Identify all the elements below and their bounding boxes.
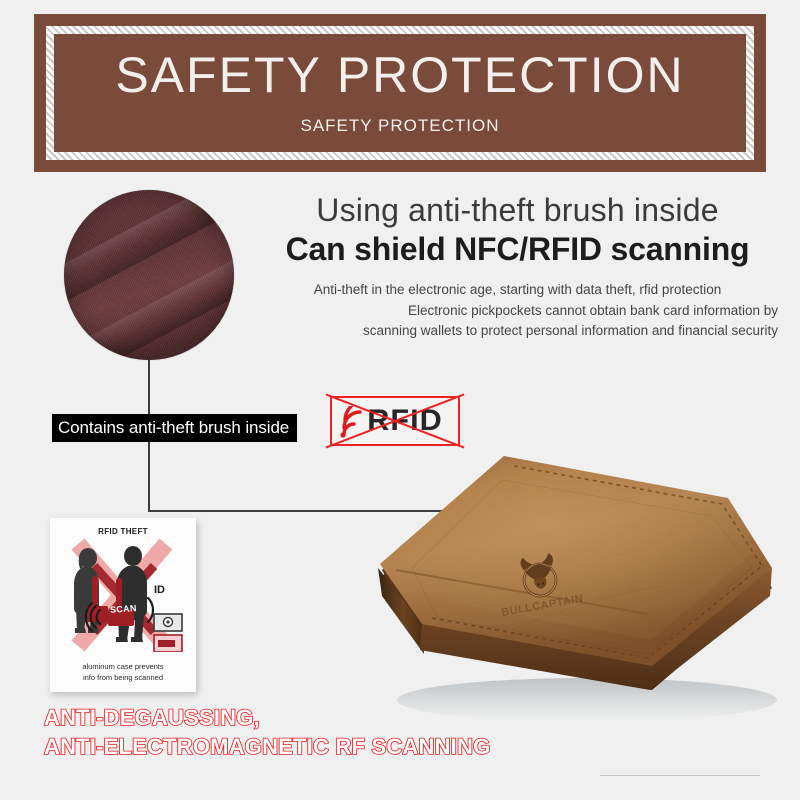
footer-line-2: info from being scanned: [83, 673, 163, 682]
body-copy-line-3: scanning wallets to protect personal inf…: [255, 321, 780, 342]
id-label: ID: [154, 584, 165, 596]
bottom-text-line-2: ANTI-ELECTROMAGNETIC RF SCANNING: [44, 732, 490, 761]
footer-line-1: aluminum case prevents: [82, 662, 163, 671]
infographic-page: SAFETY PROTECTION SAFETY PROTECTION Usin…: [0, 0, 800, 800]
rfid-theft-card: RFID THEFT: [50, 518, 196, 692]
wallet-product-image: BULLCAPTAIN: [352, 418, 798, 734]
rfid-theft-illustration: [50, 536, 196, 652]
header-banner: SAFETY PROTECTION SAFETY PROTECTION: [34, 14, 766, 172]
headline-line-2: Can shield NFC/RFID scanning: [255, 231, 780, 268]
fabric-closeup-circle: [64, 190, 234, 360]
callout-label: Contains anti-theft brush inside: [52, 414, 297, 442]
banner-inner: SAFETY PROTECTION SAFETY PROTECTION: [54, 34, 746, 152]
body-copy: Anti-theft in the electronic age, starti…: [255, 280, 780, 343]
bottom-hairline-divider: [600, 775, 760, 776]
banner-title: SAFETY PROTECTION: [115, 50, 684, 100]
rfid-theft-card-title: RFID THEFT: [50, 527, 196, 536]
body-copy-line-2: Electronic pickpockets cannot obtain ban…: [255, 301, 780, 322]
scan-label: SCAN: [110, 603, 137, 615]
headline-block: Using anti-theft brush inside Can shield…: [255, 192, 780, 342]
rfid-theft-card-footer: aluminum case prevents info from being s…: [50, 662, 196, 684]
fabric-vignette: [64, 190, 234, 360]
banner-subtitle: SAFETY PROTECTION: [301, 116, 500, 136]
headline-line-1: Using anti-theft brush inside: [255, 192, 780, 229]
bottom-callout-text: ANTI-DEGAUSSING, ANTI-ELECTROMAGNETIC RF…: [44, 703, 490, 761]
body-copy-line-1: Anti-theft in the electronic age, starti…: [255, 280, 780, 301]
bottom-text-line-1: ANTI-DEGAUSSING,: [44, 703, 490, 732]
